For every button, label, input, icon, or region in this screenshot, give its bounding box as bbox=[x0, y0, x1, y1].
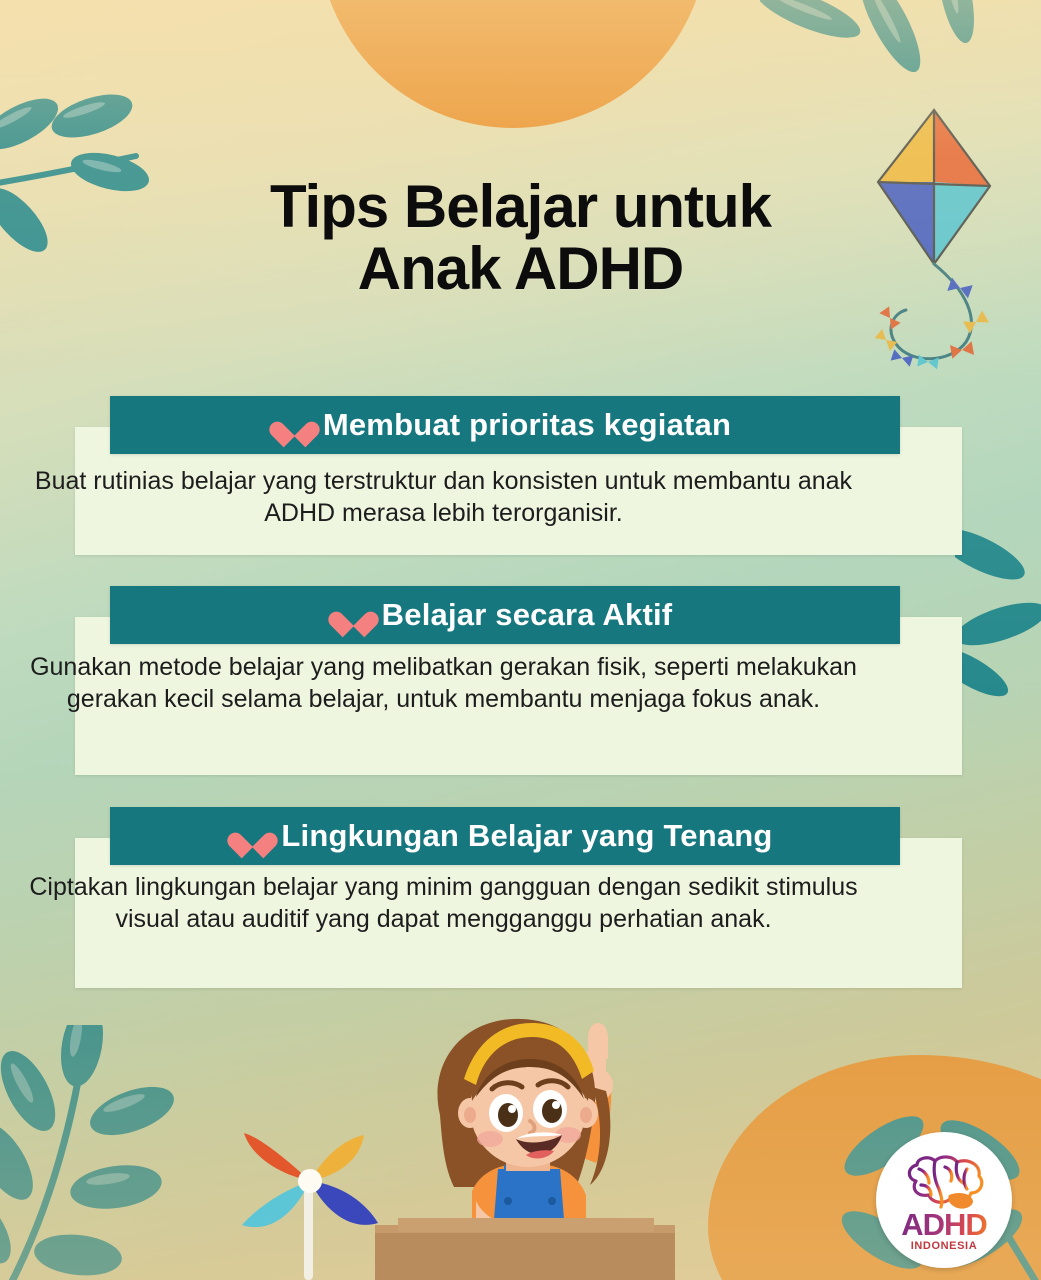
page-title: Tips Belajar untuk Anak ADHD bbox=[0, 176, 1041, 300]
title-line-2: Anak ADHD bbox=[0, 238, 1041, 300]
tip-card-1-heading: Membuat prioritas kegiatan bbox=[323, 407, 731, 443]
tip-card-1-text: Buat rutinias belajar yang terstruktur d… bbox=[0, 466, 887, 530]
brain-icon bbox=[901, 1153, 987, 1213]
title-line-1: Tips Belajar untuk bbox=[270, 173, 771, 240]
heart-icon bbox=[237, 822, 267, 850]
tip-card-2-header: Belajar secara Aktif bbox=[110, 586, 900, 644]
wooden-desk-illustration bbox=[375, 1225, 675, 1280]
pinwheel-icon bbox=[230, 1095, 395, 1280]
desk-surface bbox=[398, 1218, 654, 1232]
leaf-branch-icon bbox=[0, 1025, 216, 1280]
poster-canvas: Tips Belajar untuk Anak ADHD Membuat pri… bbox=[0, 0, 1041, 1280]
pinwheel-hub bbox=[298, 1169, 322, 1193]
adhd-indonesia-logo[interactable]: ADHD INDONESIA bbox=[876, 1132, 1012, 1268]
heart-icon bbox=[279, 411, 309, 439]
tip-card-3-text: Ciptakan lingkungan belajar yang minim g… bbox=[0, 872, 887, 936]
leaf-branch-icon bbox=[955, 520, 1041, 700]
orange-circle-shape bbox=[318, 0, 708, 128]
tip-card-3-header: Lingkungan Belajar yang Tenang bbox=[110, 807, 900, 865]
tip-card-2-text: Gunakan metode belajar yang melibatkan g… bbox=[0, 652, 887, 716]
heart-icon bbox=[338, 601, 368, 629]
tip-card-2-heading: Belajar secara Aktif bbox=[382, 597, 673, 633]
logo-secondary-text: INDONESIA bbox=[911, 1241, 978, 1252]
tip-card-1-header: Membuat prioritas kegiatan bbox=[110, 396, 900, 454]
tip-card-3-heading: Lingkungan Belajar yang Tenang bbox=[281, 818, 772, 854]
logo-primary-text: ADHD bbox=[901, 1209, 987, 1240]
